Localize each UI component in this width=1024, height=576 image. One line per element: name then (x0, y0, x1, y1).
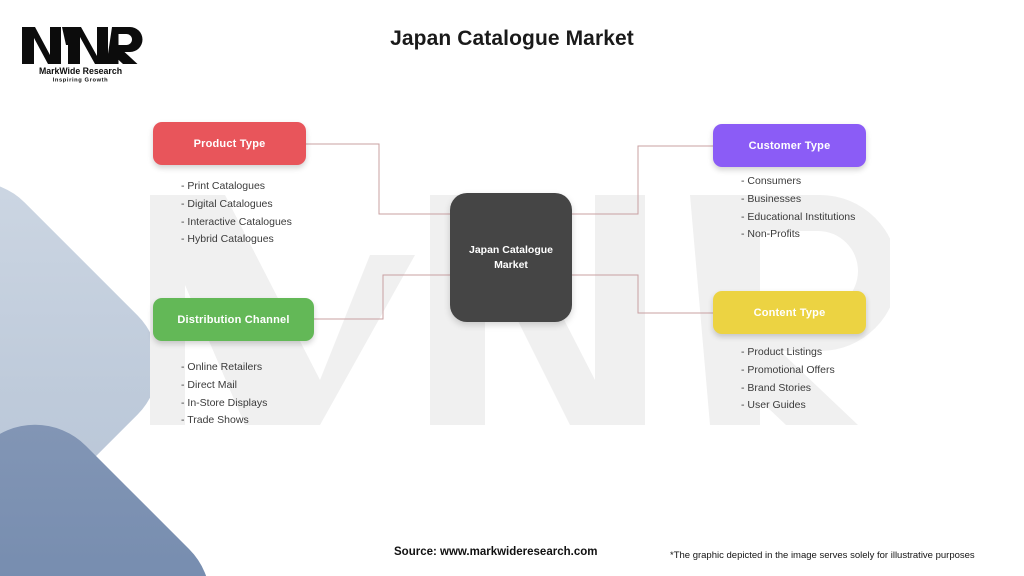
category-list-customer-type: - Consumers - Businesses - Educational I… (741, 173, 855, 244)
list-item: - Hybrid Catalogues (181, 231, 292, 249)
connector-product-type (306, 144, 450, 214)
list-item: - Product Listings (741, 344, 835, 362)
center-node-label: Japan Catalogue Market (463, 243, 559, 273)
category-list-distribution-channel: - Online Retailers - Direct Mail - In-St… (181, 359, 267, 430)
diagram-canvas: MarkWide Research Inspiring Growth Japan… (0, 0, 1024, 576)
list-item: - Non-Profits (741, 226, 855, 244)
list-item: - Direct Mail (181, 377, 267, 395)
category-box-distribution-channel[interactable]: Distribution Channel (153, 298, 314, 341)
list-item: - Educational Institutions (741, 209, 855, 227)
category-label-content-type: Content Type (754, 307, 826, 319)
list-item: - Brand Stories (741, 380, 835, 398)
category-box-content-type[interactable]: Content Type (713, 291, 866, 334)
center-node-line2: Market (494, 259, 528, 271)
list-item: - Interactive Catalogues (181, 214, 292, 232)
list-item: - Consumers (741, 173, 855, 191)
logo-name: MarkWide Research (39, 66, 122, 76)
center-node-line1: Japan Catalogue (469, 244, 553, 256)
list-item: - Promotional Offers (741, 362, 835, 380)
page-title: Japan Catalogue Market (0, 27, 1024, 51)
category-list-content-type: - Product Listings - Promotional Offers … (741, 344, 835, 415)
category-label-customer-type: Customer Type (749, 140, 831, 152)
list-item: - Digital Catalogues (181, 196, 292, 214)
list-item: - In-Store Displays (181, 395, 267, 413)
connector-distribution-channel (314, 275, 450, 319)
connector-customer-type (572, 146, 713, 214)
decorative-shape-light (0, 153, 187, 576)
list-item: - User Guides (741, 397, 835, 415)
list-item: - Businesses (741, 191, 855, 209)
category-list-product-type: - Print Catalogues - Digital Catalogues … (181, 178, 292, 249)
list-item: - Online Retailers (181, 359, 267, 377)
logo-tagline: Inspiring Growth (53, 78, 109, 84)
list-item: - Trade Shows (181, 412, 267, 430)
footer-disclaimer: *The graphic depicted in the image serve… (670, 550, 975, 561)
center-node[interactable]: Japan Catalogue Market (450, 193, 572, 322)
footer-source: Source: www.markwideresearch.com (394, 546, 597, 558)
list-item: - Print Catalogues (181, 178, 292, 196)
category-label-product-type: Product Type (194, 138, 266, 150)
connector-content-type (572, 275, 713, 313)
category-box-product-type[interactable]: Product Type (153, 122, 306, 165)
category-box-customer-type[interactable]: Customer Type (713, 124, 866, 167)
category-label-distribution-channel: Distribution Channel (177, 314, 289, 326)
